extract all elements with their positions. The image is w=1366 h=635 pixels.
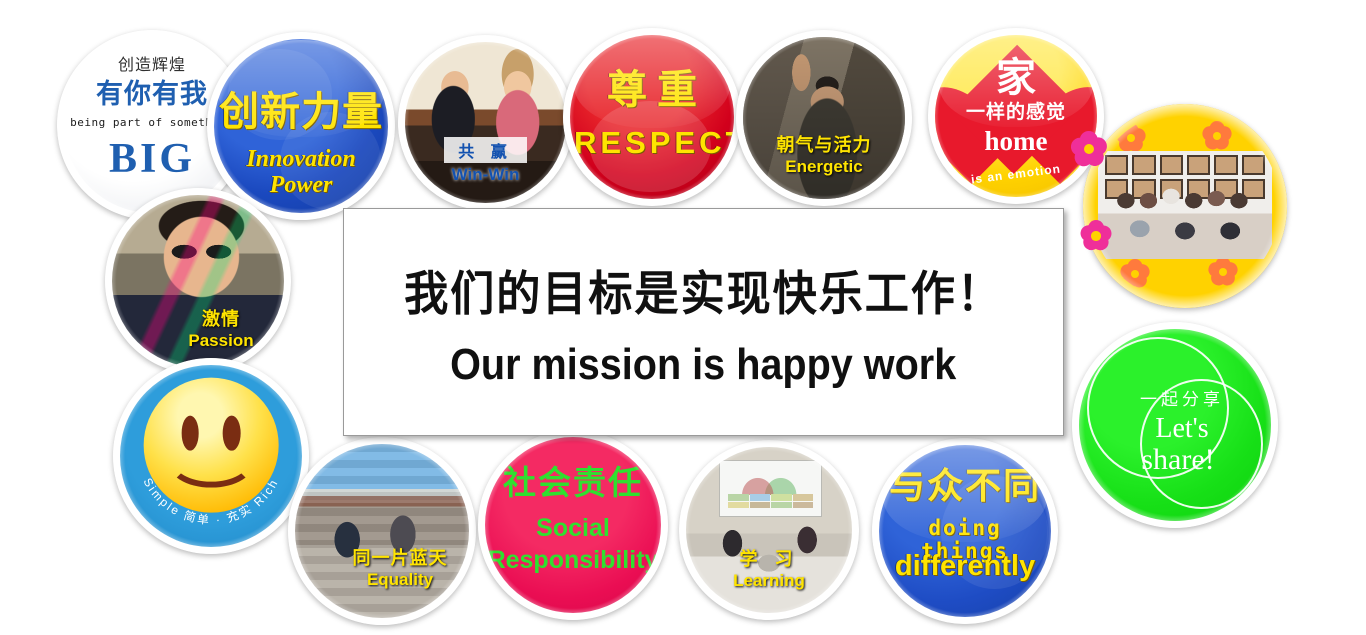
badge-home-line1: 家 — [935, 57, 1097, 100]
badge-energetic-caption: 朝气与活力 Energetic — [743, 131, 905, 177]
badge-win-win[interactable]: 共 赢 Win-Win — [398, 35, 573, 210]
badge-equality-caption: 同一片蓝天 Equality — [295, 544, 469, 590]
badge-learning[interactable]: 学 习 Learning — [679, 440, 859, 620]
badge-winwin-line2: Win-Win — [405, 165, 566, 185]
badge-smile-line1: Simple 简单 · 充实 Rich — [141, 476, 282, 528]
flower-icon — [1200, 119, 1234, 153]
flower-icon — [1206, 255, 1240, 289]
mission-line-en: Our mission is happy work — [450, 340, 956, 390]
badge-respect-face: 尊重 RESPECT — [570, 35, 734, 199]
badge-home-is-an-emotion[interactable]: 家 一样的感觉 home is an emotion — [928, 28, 1104, 204]
badge-innovation-power[interactable]: 创新力量 Innovation Power — [207, 32, 395, 220]
badge-share-line2: Let's — [1079, 414, 1271, 444]
badge-winwin-face: 共 赢 Win-Win — [405, 42, 566, 203]
badge-share-line3: share! — [1079, 444, 1271, 476]
badge-respect-line2: RESPECT — [570, 126, 734, 159]
badge-passion-caption: 激情 Passion — [112, 305, 284, 351]
badge-energetic-line1: 朝气与活力 — [743, 131, 905, 157]
badge-smile-face: Simple 简单 · 充实 Rich — [120, 365, 302, 547]
values-collage: 创造辉煌 有你有我 being part of something BIG 创新… — [0, 0, 1366, 635]
mission-line-cn: 我们的目标是实现快乐工作！ — [404, 255, 1003, 324]
flower-icon — [1118, 257, 1152, 291]
badge-winwin-line1: 共 赢 — [444, 137, 526, 163]
badge-lets-share[interactable]: 一起分享 Let's share! — [1072, 322, 1278, 528]
badge-passion-face: 激情 Passion — [112, 195, 284, 367]
badge-passion[interactable]: 激情 Passion — [105, 188, 291, 374]
badge-learning-face: 学 习 Learning — [686, 447, 852, 613]
badge-respect-line1: 尊重 — [570, 69, 734, 112]
badge-share-line1: 一起分享 — [1079, 391, 1271, 409]
badge-innovation-face: 创新力量 Innovation Power — [214, 39, 388, 213]
group-photo — [1098, 151, 1272, 259]
badge-doing-things-differently[interactable]: 与众不同 doing things differently — [872, 438, 1058, 624]
badge-social-line3: Responsibility — [485, 547, 661, 574]
badge-innovation-line1: 创新力量 — [214, 91, 388, 134]
flower-icon — [1078, 218, 1114, 254]
badge-learning-line1: 学 习 — [686, 545, 852, 571]
badge-diff-face: 与众不同 doing things differently — [879, 445, 1051, 617]
equality-photo — [295, 444, 469, 618]
badge-big-line1: 创造辉煌 — [64, 57, 240, 74]
projector-screen-icon — [719, 460, 822, 516]
badge-learning-caption: 学 习 Learning — [686, 545, 852, 591]
badge-group-face — [1090, 111, 1280, 301]
badge-energetic-line2: Energetic — [743, 157, 905, 177]
badge-social-line1: 社会责任 — [485, 465, 661, 501]
badge-home-line2: 一样的感觉 — [935, 103, 1097, 124]
badge-passion-line1: 激情 — [158, 305, 284, 331]
mission-banner: 我们的目标是实现快乐工作！ Our mission is happy work — [343, 208, 1064, 436]
badge-diff-line3: differently — [879, 551, 1051, 582]
flower-icon — [1068, 128, 1110, 170]
badge-energetic-face: 朝气与活力 Energetic — [743, 37, 905, 199]
badge-innovation-line2: Innovation Power — [214, 147, 388, 199]
badge-passion-line2: Passion — [158, 331, 284, 351]
badge-diff-line1: 与众不同 — [879, 467, 1051, 506]
svg-text:Simple 简单 · 充实 Rich: Simple 简单 · 充实 Rich — [141, 476, 282, 528]
badge-team-group-photo[interactable] — [1083, 104, 1287, 308]
badge-equality-line2: Equality — [331, 570, 469, 590]
flower-icon — [1114, 121, 1148, 155]
badge-equality[interactable]: 同一片蓝天 Equality — [288, 437, 476, 625]
wall-frames-icon — [1105, 155, 1265, 198]
badge-respect[interactable]: 尊重 RESPECT — [563, 28, 741, 206]
badge-simple-and-rich[interactable]: Simple 简单 · 充实 Rich — [113, 358, 309, 554]
badge-learning-line2: Learning — [686, 571, 852, 591]
badge-share-face: 一起分享 Let's share! — [1079, 329, 1271, 521]
badge-winwin-caption: 共 赢 Win-Win — [405, 137, 566, 185]
badge-equality-face: 同一片蓝天 Equality — [295, 444, 469, 618]
badge-home-face: 家 一样的感觉 home is an emotion — [935, 35, 1097, 197]
badge-equality-line1: 同一片蓝天 — [331, 544, 469, 570]
curved-caption: Simple 简单 · 充实 Rich — [120, 365, 302, 547]
badge-social-responsibility[interactable]: 社会责任 Social Responsibility — [478, 430, 668, 620]
badge-energetic[interactable]: 朝气与活力 Energetic — [736, 30, 912, 206]
badge-social-line2: Social — [485, 515, 661, 542]
badge-social-face: 社会责任 Social Responsibility — [485, 437, 661, 613]
